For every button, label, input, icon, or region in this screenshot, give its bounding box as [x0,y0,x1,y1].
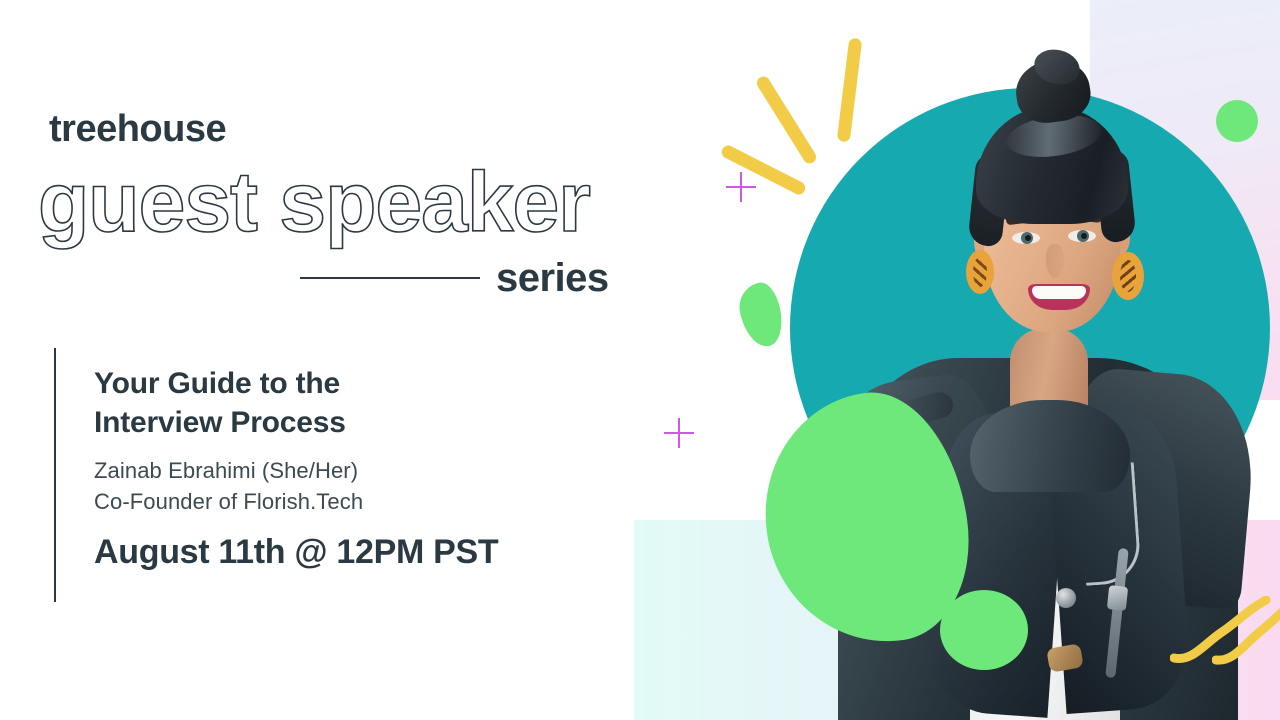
talk-title-line-1: Your Guide to the [94,364,498,403]
green-circle-small [1216,100,1258,142]
magenta-plus-icon-1 [726,172,756,202]
headline-guest-speaker: guest speaker [38,160,590,244]
speaker-role: Co-Founder of Florish.Tech [94,487,498,518]
talk-title: Your Guide to the Interview Process [94,364,498,442]
yellow-wavy-line-2 [1212,590,1280,666]
leopard-hoop-earring-right [1112,252,1144,300]
green-circle-large [940,590,1028,670]
series-divider-rule [300,277,480,279]
series-label: series [496,258,609,298]
series-row: series [300,258,609,298]
event-date-time: August 11th @ 12PM PST [94,534,498,571]
text-column: treehouse guest speaker series Your Guid… [0,0,660,720]
leopard-hoop-earring-left [966,250,994,294]
talk-title-line-2: Interview Process [94,403,498,442]
magenta-plus-icon-2 [664,418,694,448]
green-blob-small [735,280,787,351]
treehouse-wordmark: treehouse [49,110,226,148]
event-info-block: Your Guide to the Interview Process Zain… [54,348,498,602]
yellow-spark-stroke-2 [754,74,818,166]
speaker-name: Zainab Ebrahimi (She/Her) [94,456,498,487]
promo-slide: treehouse guest speaker series Your Guid… [0,0,1280,720]
